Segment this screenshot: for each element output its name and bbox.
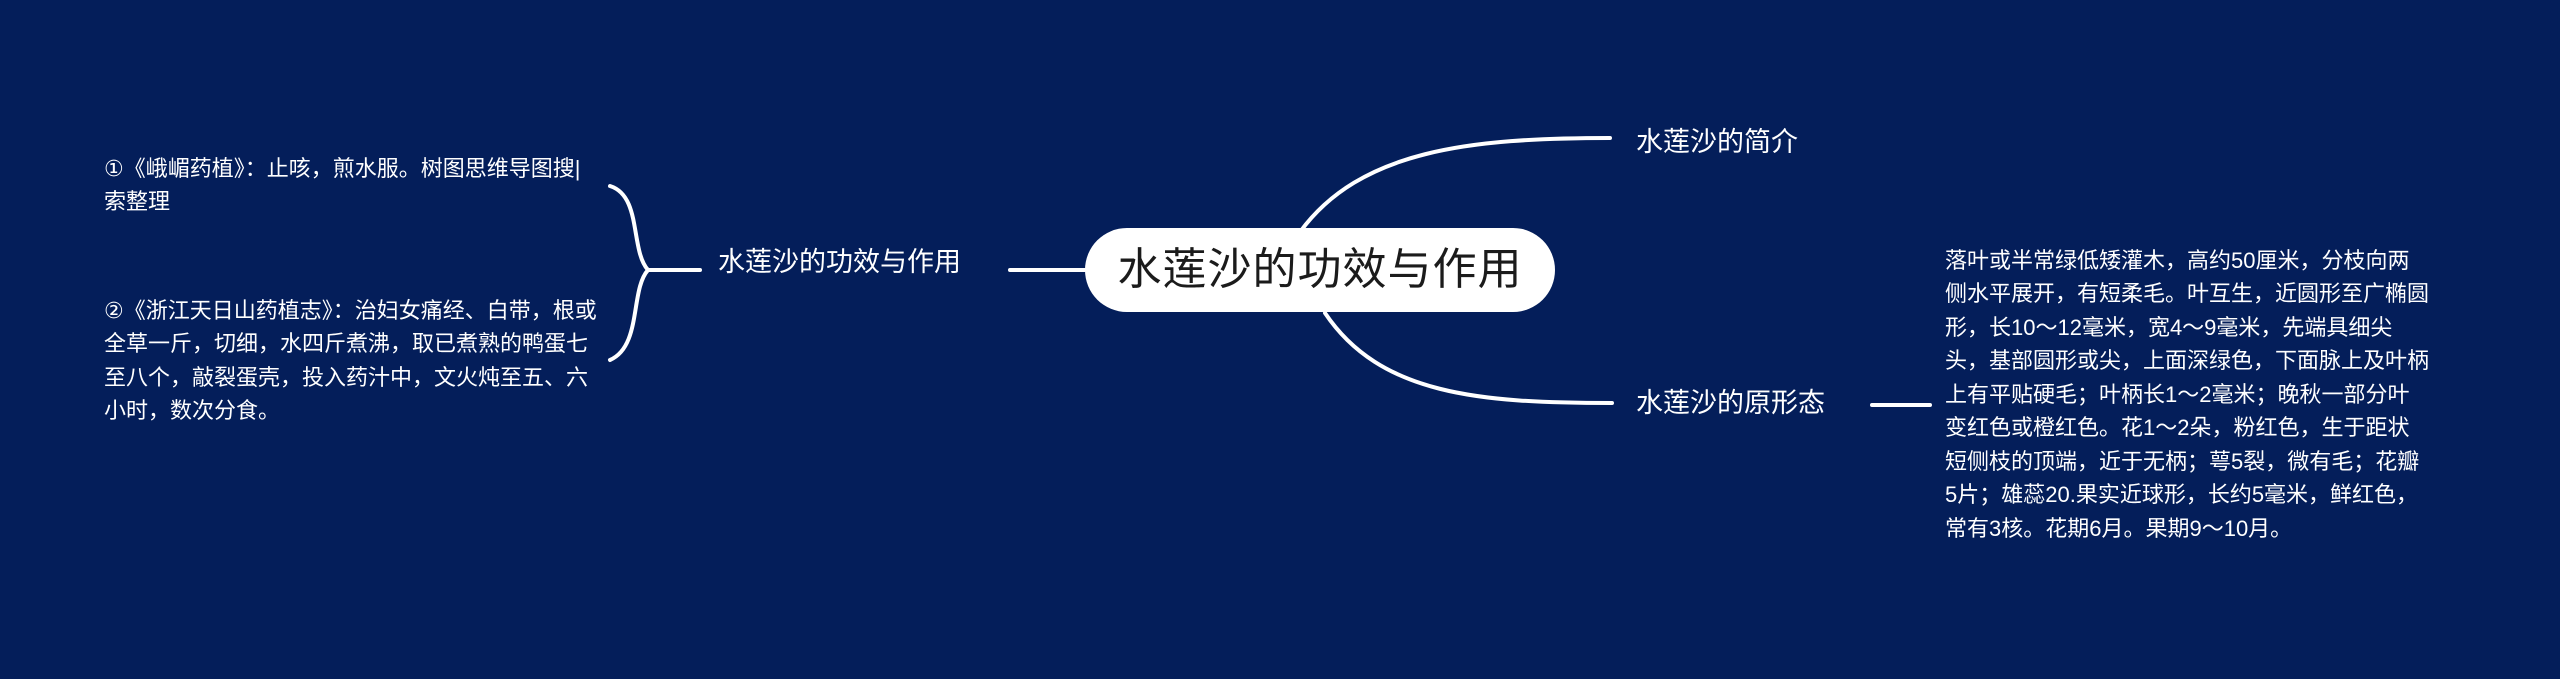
brace-effects-group <box>610 186 648 360</box>
branch-intro-text: 水莲沙的简介 <box>1636 127 1798 157</box>
root-node[interactable]: 水莲沙的功效与作用 <box>1085 228 1555 312</box>
leaf-text-effects-2: ②《浙江天日山药植志》：治妇女痛经、白带，根或全草一斤，切细，水四斤煮沸，取已煮… <box>104 294 602 428</box>
root-node-label: 水莲沙的功效与作用 <box>1118 248 1523 292</box>
branch-effects-text: 水莲沙的功效与作用 <box>718 247 961 277</box>
leaf-text-form-description: 落叶或半常绿低矮灌木，高约50厘米，分枝向两侧水平展开，有短柔毛。叶互生，近圆形… <box>1945 244 2431 545</box>
mindmap-canvas: 水莲沙的功效与作用 水莲沙的简介 水莲沙的原形态 水莲沙的功效与作用 ①《峨嵋药… <box>0 0 2560 679</box>
branch-label-intro[interactable]: 水莲沙的简介 <box>1636 126 1798 158</box>
branch-form-text: 水莲沙的原形态 <box>1636 388 1825 418</box>
connector-root-to-intro <box>1300 138 1610 232</box>
leaf-text-effects-1: ①《峨嵋药植》：止咳，煎水服。树图思维导图搜|索整理 <box>104 152 602 219</box>
connector-root-to-form <box>1325 313 1612 403</box>
branch-label-effects[interactable]: 水莲沙的功效与作用 <box>718 246 961 278</box>
branch-label-form[interactable]: 水莲沙的原形态 <box>1636 387 1825 419</box>
